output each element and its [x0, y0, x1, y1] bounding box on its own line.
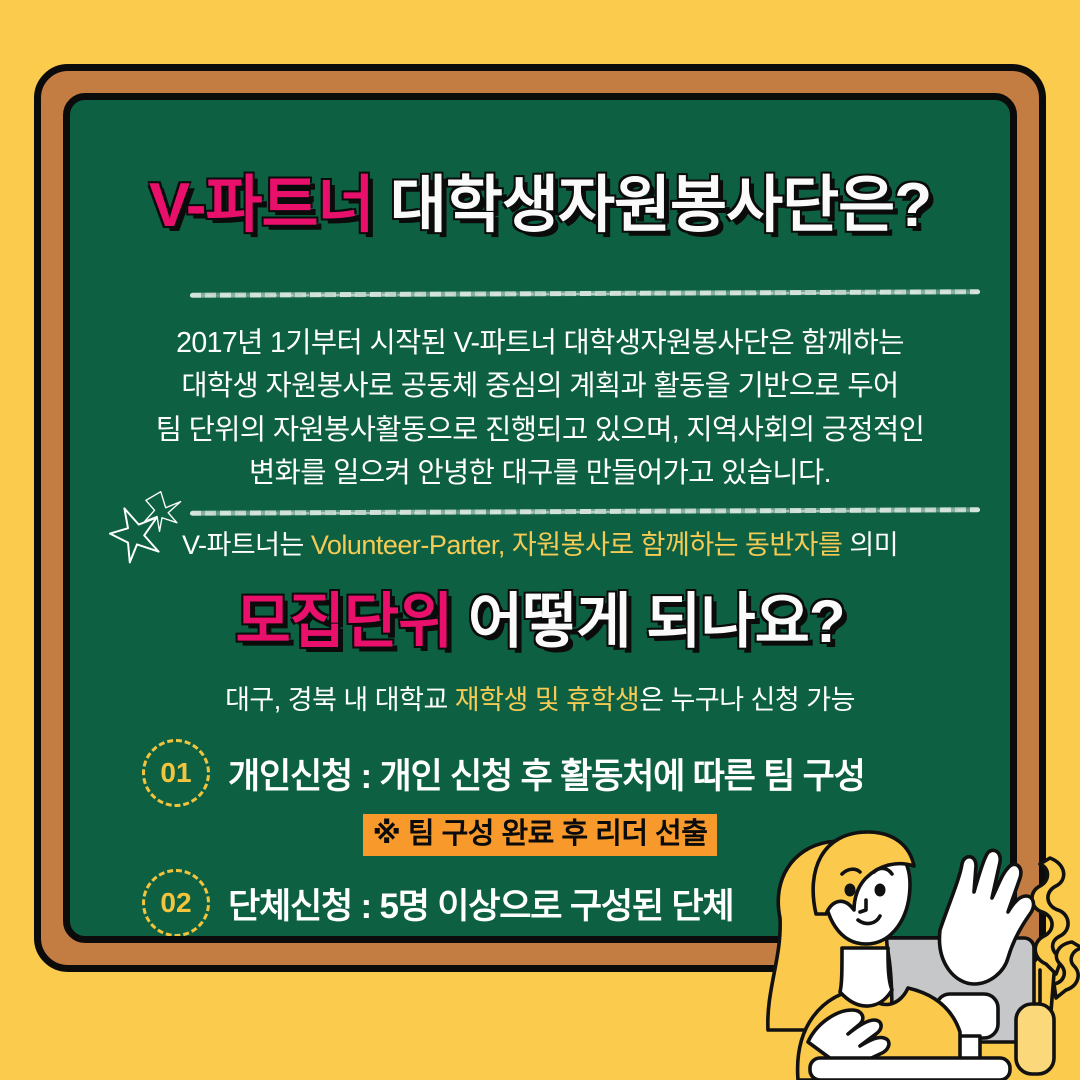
- meaning-prefix: V-파트너는: [182, 530, 311, 560]
- note-highlight-text: ※ 팀 구성 완료 후 리더 선출: [363, 814, 718, 856]
- chalk-divider-top: [190, 289, 980, 297]
- list-item-option-02: 02 단체신청 : 5명 이상으로 구성된 단체: [142, 869, 733, 937]
- list-item-option-01: 01 개인신청 : 개인 신청 후 활동처에 따른 팀 구성: [142, 739, 865, 807]
- badge-number-01: 01: [142, 739, 210, 807]
- intro-line: 2017년 1기부터 시작된 V-파트너 대학생자원봉사단은 함께하는: [130, 322, 950, 365]
- intro-line: 팀 단위의 자원봉사활동으로 진행되고 있으며, 지역사회의 긍정적인: [130, 409, 950, 452]
- eligibility-prefix: 대구, 경북 내 대학교: [225, 685, 455, 715]
- intro-line: 대학생 자원봉사로 공동체 중심의 계획과 활동을 기반으로 두어: [130, 365, 950, 408]
- page-title: V-파트너 대학생자원봉사단은?: [70, 175, 1010, 237]
- option-label-02: 단체신청 : 5명 이상으로 구성된 단체: [228, 878, 733, 929]
- intro-line: 변화를 일으켜 안녕한 대구를 만들어가고 있습니다.: [130, 452, 950, 495]
- section-title-recruit-keyword: 모집단위: [235, 588, 452, 655]
- typing-hand: [808, 1010, 889, 1070]
- chalkboard-frame: V-파트너 대학생자원봉사단은? 2017년 1기부터 시작된 V-파트너 대학…: [34, 64, 1046, 972]
- meaning-highlight: Volunteer-Parter, 자원봉사로 함께하는 동반자를: [311, 530, 843, 560]
- section-title-recruit-rest: 어떻게 되나요?: [468, 588, 845, 655]
- note-highlight: ※ 팀 구성 완료 후 리더 선출: [70, 814, 1010, 856]
- keyboard: [810, 1058, 1010, 1080]
- vase-icon: [1016, 1004, 1054, 1074]
- meaning-line: V-파트너는 Volunteer-Parter, 자원봉사로 함께하는 동반자를…: [70, 523, 1010, 562]
- option-label-01: 개인신청 : 개인 신청 후 활동처에 따른 팀 구성: [228, 748, 865, 799]
- eligibility-suffix: 은 누구나 신청 가능: [639, 685, 855, 715]
- page-title-brand: V-파트너: [149, 171, 374, 240]
- badge-number-02: 02: [142, 869, 210, 937]
- chalkboard-surface: V-파트너 대학생자원봉사단은? 2017년 1기부터 시작된 V-파트너 대학…: [63, 93, 1017, 943]
- body: [798, 988, 960, 1080]
- meaning-suffix: 의미: [842, 530, 898, 560]
- eligibility-line: 대구, 경북 내 대학교 재학생 및 휴학생은 누구나 신청 가능: [70, 678, 1010, 717]
- chalk-divider-bottom: [190, 507, 980, 515]
- eligibility-highlight: 재학생 및 휴학생: [455, 685, 639, 715]
- intro-paragraph: 2017년 1기부터 시작된 V-파트너 대학생자원봉사단은 함께하는 대학생 …: [130, 322, 950, 495]
- section-title-recruit: 모집단위 어떻게 되나요?: [70, 592, 1010, 652]
- page-title-rest: 대학생자원봉사단은?: [390, 171, 931, 240]
